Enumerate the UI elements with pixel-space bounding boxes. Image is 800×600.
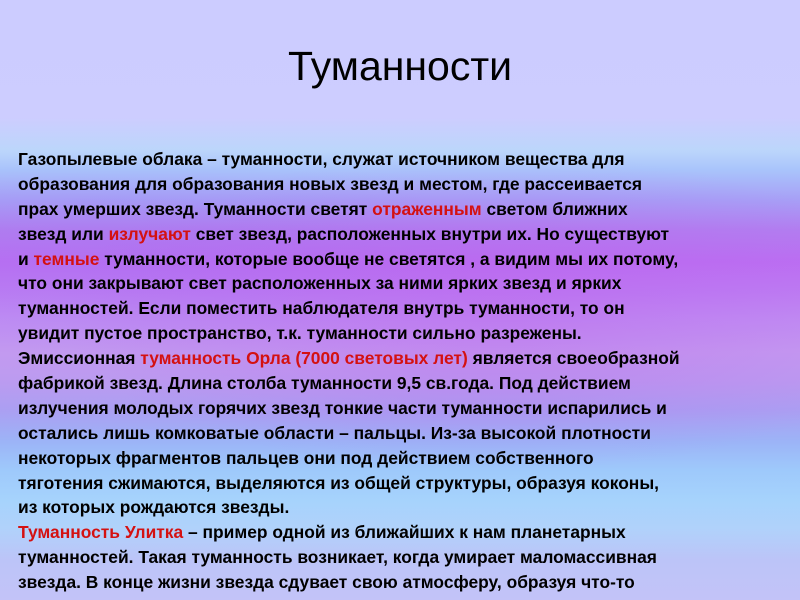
body-text-run: туманностей. Если поместить наблюдателя … <box>18 298 625 318</box>
body-text-line: фабрикой звезд. Длина столба туманности … <box>18 371 790 396</box>
body-text-run: из которых рождаются звезды. <box>18 497 289 517</box>
body-text-run: что они закрывают свет расположенных за … <box>18 273 621 293</box>
body-text-run: остались лишь комковатые области – пальц… <box>18 423 651 443</box>
slide-body-text: Газопылевые облака – туманности, служат … <box>18 147 790 600</box>
body-text-run: является своеобразной <box>468 348 680 368</box>
body-text-run: свет звезд, расположенных внутри их. Но … <box>191 224 669 244</box>
body-text-line: прах умерших звезд. Туманности светят от… <box>18 197 790 222</box>
body-text-line: звезд или излучают свет звезд, расположе… <box>18 222 790 247</box>
highlighted-term: излучают <box>109 224 191 244</box>
body-text-run: Эмиссионная <box>18 348 140 368</box>
body-text-run: светом ближних <box>482 199 628 219</box>
body-text-line: остались лишь комковатые области – пальц… <box>18 421 790 446</box>
body-text-line: тяготения сжимаются, выделяются из общей… <box>18 471 790 496</box>
body-text-run: излучения молодых горячих звезд тонкие ч… <box>18 398 667 418</box>
body-text-line: некоторых фрагментов пальцев они под дей… <box>18 446 790 471</box>
body-text-line: туманностей. Такая туманность возникает,… <box>18 545 790 570</box>
slide-content: Туманности Газопылевые облака – туманнос… <box>0 0 800 600</box>
body-text-line: излучения молодых горячих звезд тонкие ч… <box>18 396 790 421</box>
highlighted-term: туманность Орла (7000 световых лет) <box>140 348 468 368</box>
body-text-run: образования для образования новых звезд … <box>18 174 642 194</box>
page-title: Туманности <box>0 42 800 90</box>
body-text-run: – пример одной из ближайших к нам планет… <box>183 522 625 542</box>
body-text-line: образования для образования новых звезд … <box>18 172 790 197</box>
body-text-run: туманностей. Такая туманность возникает,… <box>18 547 657 567</box>
body-text-run: тяготения сжимаются, выделяются из общей… <box>18 473 659 493</box>
body-text-line: и темные туманности, которые вообще не с… <box>18 247 790 272</box>
highlighted-term: темные <box>34 249 100 269</box>
body-text-line: увидит пустое пространство, т.к. туманно… <box>18 321 790 346</box>
body-text-run: звезда. В конце жизни звезда сдувает сво… <box>18 572 635 592</box>
highlighted-term: отраженным <box>372 199 482 219</box>
body-text-line: Эмиссионная туманность Орла (7000 светов… <box>18 346 790 371</box>
body-text-line: туманностей. Если поместить наблюдателя … <box>18 296 790 321</box>
presentation-slide: Туманности Газопылевые облака – туманнос… <box>0 0 800 600</box>
body-text-run: и <box>18 249 34 269</box>
body-text-run: Газопылевые облака – туманности, служат … <box>18 149 625 169</box>
body-text-run: туманности, которые вообще не светятся ,… <box>99 249 678 269</box>
body-text-line: что они закрывают свет расположенных за … <box>18 271 790 296</box>
body-text-line: Туманность Улитка – пример одной из ближ… <box>18 520 790 545</box>
body-text-run: прах умерших звезд. Туманности светят <box>18 199 372 219</box>
body-text-run: увидит пустое пространство, т.к. туманно… <box>18 323 582 343</box>
body-text-line: вроде гигантского кольца дыма. Газ свети… <box>18 595 790 600</box>
body-text-line: из которых рождаются звезды. <box>18 495 790 520</box>
body-text-run: звезд или <box>18 224 109 244</box>
body-text-run: некоторых фрагментов пальцев они под дей… <box>18 448 594 468</box>
body-text-run: фабрикой звезд. Длина столба туманности … <box>18 373 631 393</box>
body-text-line: звезда. В конце жизни звезда сдувает сво… <box>18 570 790 595</box>
highlighted-term: Туманность Улитка <box>18 522 183 542</box>
body-text-line: Газопылевые облака – туманности, служат … <box>18 147 790 172</box>
